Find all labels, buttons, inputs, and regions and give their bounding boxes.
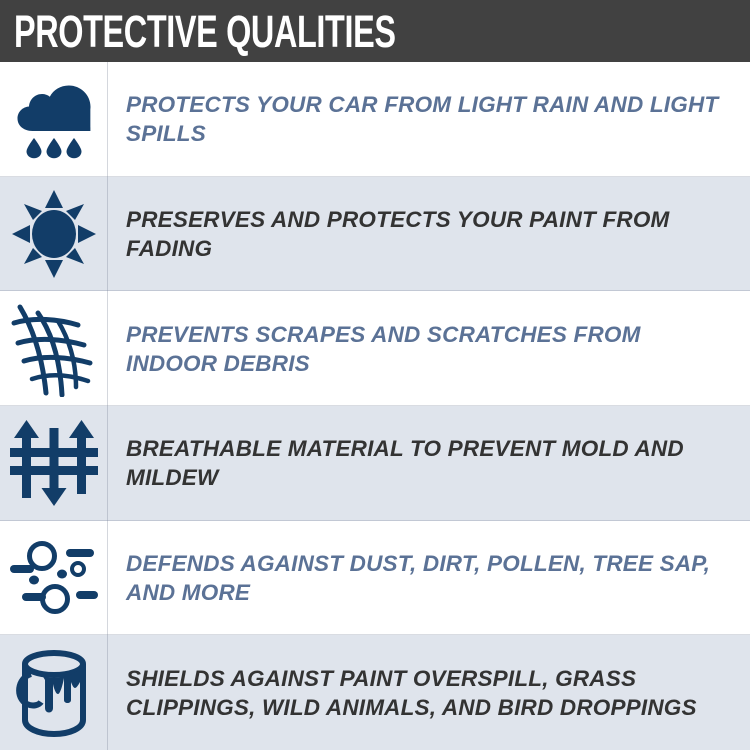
list-item-label: PROTECTS YOUR CAR FROM LIGHT RAIN AND LI… <box>126 90 736 148</box>
text-cell: PROTECTS YOUR CAR FROM LIGHT RAIN AND LI… <box>108 62 750 177</box>
list-item: SHIELDS AGAINST PAINT OVERSPILL, GRASS C… <box>0 635 750 750</box>
breathable-airflow-icon <box>10 418 98 508</box>
list-item-label: PREVENTS SCRAPES AND SCRATCHES FROM INDO… <box>126 320 736 378</box>
text-cell: BREATHABLE MATERIAL TO PREVENT MOLD AND … <box>108 406 750 521</box>
list-item: PREVENTS SCRAPES AND SCRATCHES FROM INDO… <box>0 291 750 406</box>
protective-qualities-infographic: PROTECTIVE QUALITIES PROTECTS YOUR CAR F… <box>0 0 750 750</box>
icon-cell <box>0 177 108 292</box>
list-item-label: PRESERVES AND PROTECTS YOUR PAINT FROM F… <box>126 205 736 263</box>
paint-can-icon <box>11 648 97 738</box>
list-item-label: SHIELDS AGAINST PAINT OVERSPILL, GRASS C… <box>126 664 736 722</box>
text-cell: SHIELDS AGAINST PAINT OVERSPILL, GRASS C… <box>108 635 750 750</box>
header-bar: PROTECTIVE QUALITIES <box>0 0 750 62</box>
icon-cell <box>0 635 108 750</box>
scratches-mesh-icon <box>8 301 100 397</box>
list-item: PROTECTS YOUR CAR FROM LIGHT RAIN AND LI… <box>0 62 750 177</box>
list-item: BREATHABLE MATERIAL TO PREVENT MOLD AND … <box>0 406 750 521</box>
text-cell: PREVENTS SCRAPES AND SCRATCHES FROM INDO… <box>108 291 750 406</box>
list-item-label: BREATHABLE MATERIAL TO PREVENT MOLD AND … <box>126 434 736 492</box>
sun-icon <box>12 190 96 278</box>
text-cell: DEFENDS AGAINST DUST, DIRT, POLLEN, TREE… <box>108 521 750 636</box>
icon-cell <box>0 291 108 406</box>
page-title: PROTECTIVE QUALITIES <box>14 9 396 54</box>
list-item-label: DEFENDS AGAINST DUST, DIRT, POLLEN, TREE… <box>126 549 736 607</box>
qualities-list: PROTECTS YOUR CAR FROM LIGHT RAIN AND LI… <box>0 62 750 750</box>
rain-cloud-icon <box>12 77 96 161</box>
icon-cell <box>0 62 108 177</box>
list-item: DEFENDS AGAINST DUST, DIRT, POLLEN, TREE… <box>0 521 750 636</box>
text-cell: PRESERVES AND PROTECTS YOUR PAINT FROM F… <box>108 177 750 292</box>
dust-particles-icon <box>8 536 100 620</box>
icon-cell <box>0 406 108 521</box>
icon-cell <box>0 521 108 636</box>
list-item: PRESERVES AND PROTECTS YOUR PAINT FROM F… <box>0 177 750 292</box>
